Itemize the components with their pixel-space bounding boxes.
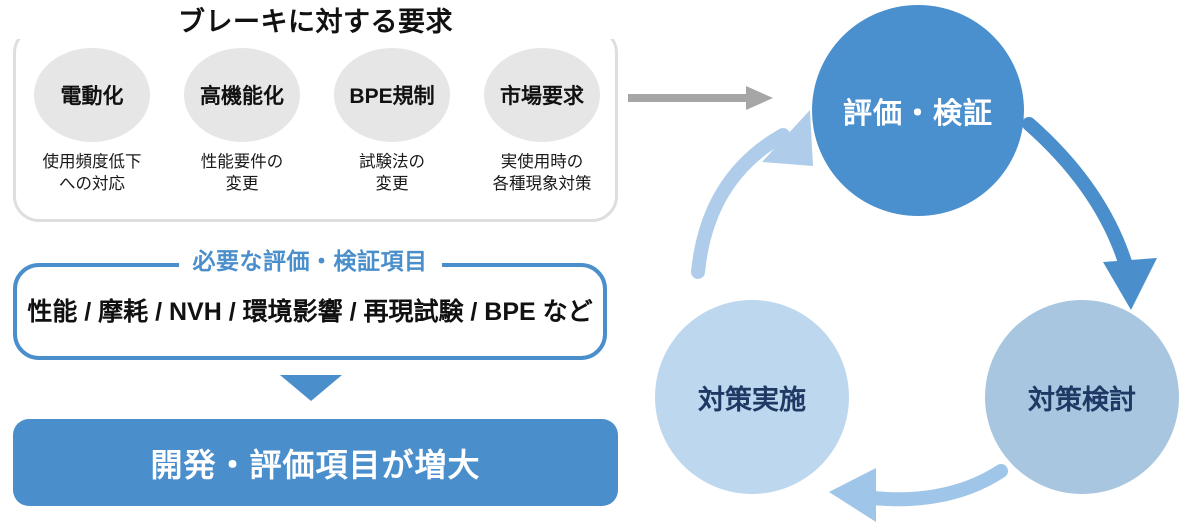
arrow-act-to-eval [698,110,813,272]
requirement-item-electrification: 電動化 使用頻度低下 への対応 [22,48,162,195]
cycle-node-countermeasure-act: 対策実施 [655,300,849,494]
requirement-caption: 使用頻度低下 への対応 [43,151,142,195]
arrow-plan-to-act [829,468,1001,522]
down-arrow-icon [280,375,342,401]
requirement-item-market-demand: 市場要求 実使用時の 各種現象対策 [472,48,612,195]
requirement-item-high-function: 高機能化 性能要件の 変更 [172,48,312,195]
result-banner: 開発・評価項目が増大 [13,419,618,506]
cycle-node-countermeasure-plan: 対策検討 [985,300,1179,494]
requirement-label: BPE規制 [349,80,434,110]
requirements-group-title: ブレーキに対する要求 [13,5,618,39]
evaluation-items-list: 性能 / 摩耗 / NVH / 環境影響 / 再現試験 / BPE など [13,292,607,328]
requirement-bubble: BPE規制 [334,48,450,142]
requirement-item-bpe-regulation: BPE規制 試験法の 変更 [322,48,462,195]
requirement-bubble: 市場要求 [484,48,600,142]
requirement-caption: 試験法の 変更 [359,151,425,195]
requirement-label: 電動化 [61,80,124,110]
cycle-node-label: 対策実施 [698,378,806,417]
requirement-bubble: 電動化 [34,48,150,142]
requirement-caption: 性能要件の 変更 [201,151,284,195]
requirement-bubble: 高機能化 [184,48,300,142]
diagram-canvas: ブレーキに対する要求 電動化 使用頻度低下 への対応 高機能化 性能要件の 変更… [0,0,1200,527]
requirement-label: 市場要求 [500,80,584,110]
result-banner-text: 開発・評価項目が増大 [150,440,480,486]
requirements-items: 電動化 使用頻度低下 への対応 高機能化 性能要件の 変更 BPE規制 試験法の… [22,48,612,195]
cycle-node-label: 対策検討 [1028,378,1136,417]
cycle-node-label: 評価・検証 [843,90,993,132]
requirement-caption: 実使用時の 各種現象対策 [493,151,592,195]
arrow-eval-to-plan [1029,124,1157,310]
requirements-group-title-text: ブレーキに対する要求 [162,5,469,39]
cycle-node-evaluation: 評価・検証 [812,5,1024,216]
pdca-cycle: 評価・検証 対策実施 対策検討 [620,0,1200,527]
evaluation-items-title: 必要な評価・検証項目 [13,246,607,280]
evaluation-items-title-text: 必要な評価・検証項目 [179,246,442,276]
requirement-label: 高機能化 [200,80,284,110]
